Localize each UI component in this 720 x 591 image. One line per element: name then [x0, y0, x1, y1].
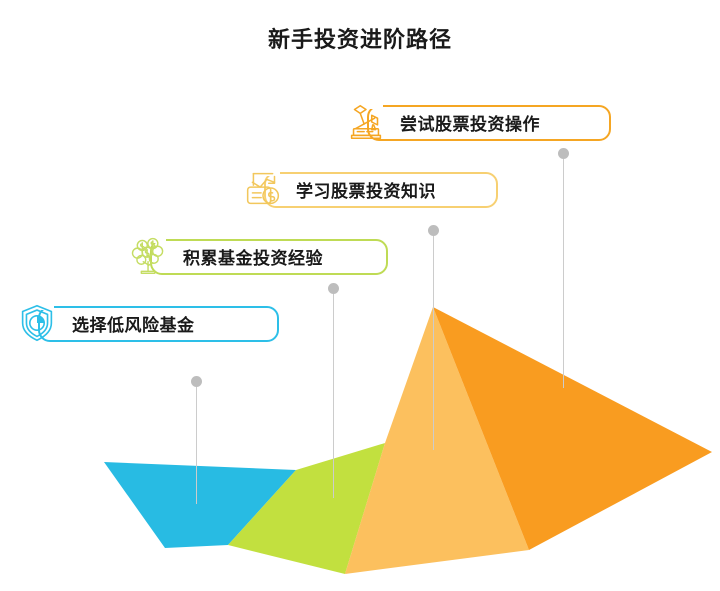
step-item-2[interactable]: 积累基金投资经验	[126, 233, 388, 275]
connector-dot-3	[428, 225, 439, 236]
money-tree-icon	[126, 233, 172, 279]
connector-4	[558, 148, 569, 388]
connector-line-3	[433, 231, 434, 450]
step-label-3: 学习股票投资知识	[296, 177, 436, 202]
infographic-canvas: 新手投资进阶路径	[0, 0, 720, 591]
connector-2	[328, 283, 339, 498]
step-item-4[interactable]: 尝试股票投资操作	[343, 99, 611, 141]
step-label-2: 积累基金投资经验	[183, 244, 323, 269]
connector-line-2	[333, 289, 334, 498]
connector-line-1	[196, 382, 197, 504]
connector-dot-2	[328, 283, 339, 294]
connector-line-4	[563, 154, 564, 388]
connector-dot-1	[191, 376, 202, 387]
connector-3	[428, 225, 439, 450]
connector-1	[191, 376, 202, 504]
stock-chart-icon	[240, 166, 286, 212]
shield-pie-icon	[14, 300, 60, 346]
robot-arm-icon	[343, 99, 389, 145]
connector-dot-4	[558, 148, 569, 159]
step-label-1: 选择低风险基金	[72, 311, 195, 336]
step-item-1[interactable]: 选择低风险基金	[14, 300, 279, 342]
step-label-4: 尝试股票投资操作	[400, 110, 540, 135]
step-item-3[interactable]: 学习股票投资知识	[240, 166, 498, 208]
mountain-illustration	[0, 0, 720, 591]
